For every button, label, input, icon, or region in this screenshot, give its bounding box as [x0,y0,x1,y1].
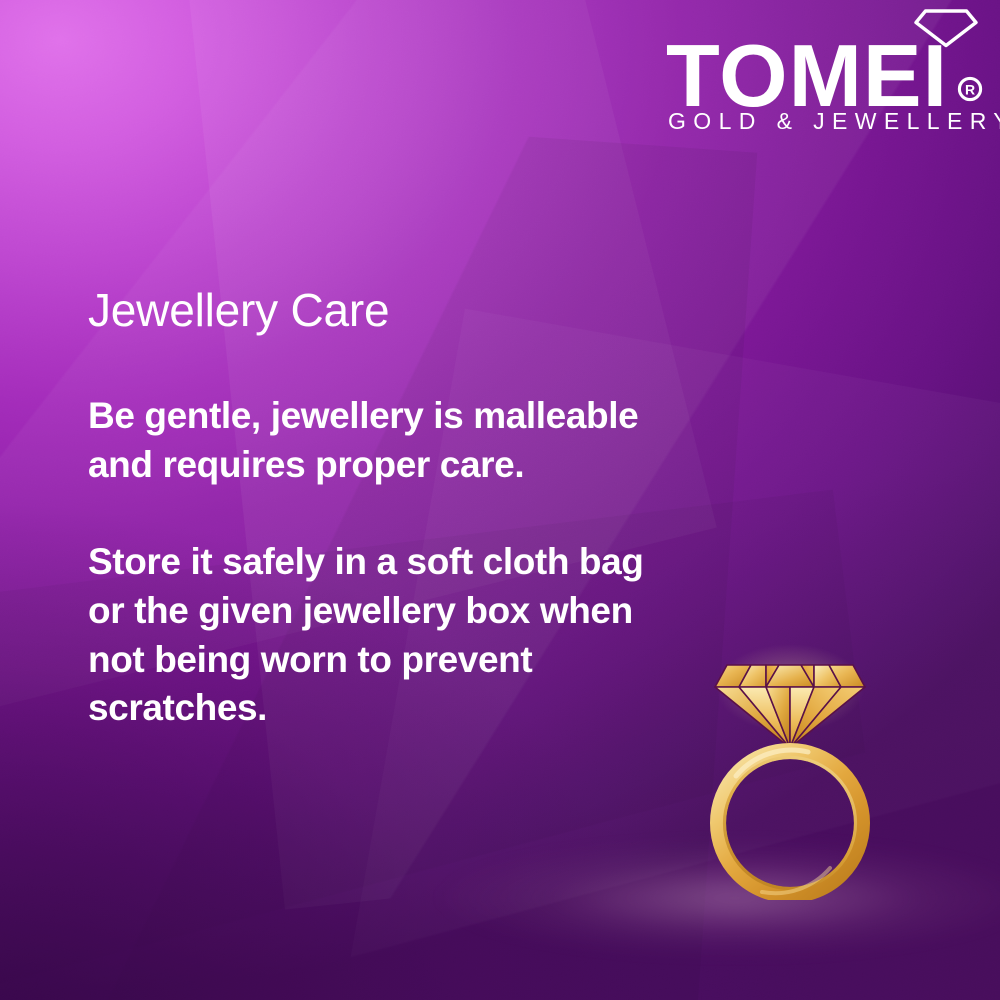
copy-block: Jewellery Care Be gentle, jewellery is m… [88,286,688,733]
jewellery-care-poster: TOMEI R GOLD & JEWELLERY Jewellery Care … [0,0,1000,1000]
svg-text:R: R [965,82,975,98]
logo-tagline: GOLD & JEWELLERY [668,110,1000,133]
logo-wordmark: TOMEI [666,32,948,120]
tomei-logo[interactable]: TOMEI R GOLD & JEWELLERY [660,6,990,136]
registered-trademark-icon: R [957,76,983,102]
page-title: Jewellery Care [88,286,688,334]
care-paragraph-1: Be gentle, jewellery is malleable and re… [88,392,688,490]
care-paragraph-2: Store it safely in a soft cloth bag or t… [88,538,688,733]
gold-ring-band [718,750,862,895]
diamond-ring-illustration [690,640,890,900]
